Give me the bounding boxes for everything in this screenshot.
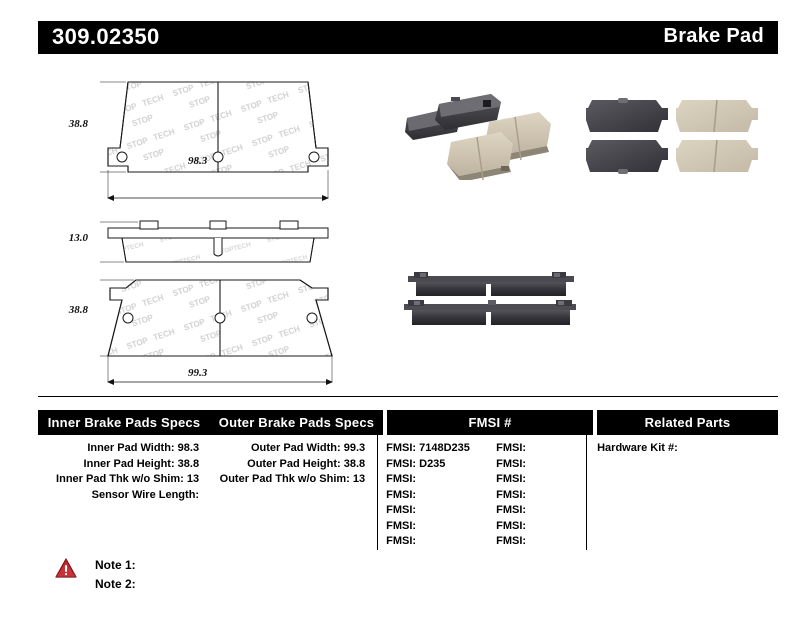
cell-fmsi: FMSI: 7148D235 FMSI: D235 FMSI: FMSI: FM… xyxy=(378,435,586,550)
part-number: 309.02350 xyxy=(52,24,160,50)
fmsi-line: FMSI: xyxy=(386,519,496,535)
cell-outer-specs: Outer Pad Width: 99.3 Outer Pad Height: … xyxy=(207,435,377,550)
photo-edge-pad-pair xyxy=(400,268,582,330)
fmsi-line: FMSI: 7148D235 xyxy=(386,441,496,457)
fmsi-line: FMSI: xyxy=(386,534,496,550)
drawings-svg: STOP TECH STOP STOPTECH xyxy=(100,70,410,390)
outer-spec-line: Outer Pad Width: 99.3 xyxy=(207,441,377,457)
fmsi-line: FMSI: D235 xyxy=(386,457,496,473)
table-header-row: Inner Brake Pads Specs Outer Brake Pads … xyxy=(38,410,778,435)
specs-table: Inner Brake Pads Specs Outer Brake Pads … xyxy=(38,410,778,550)
warning-triangle-icon xyxy=(55,558,77,578)
dim-outer-width: 99.3 xyxy=(188,367,207,379)
related-part-line: Hardware Kit #: xyxy=(597,441,778,457)
dim-inner-height: 38.8 xyxy=(28,118,88,130)
spec-sheet-page: 309.02350 Brake Pad STOP TECH STOP STOPT… xyxy=(0,0,800,619)
fmsi-line: FMSI: xyxy=(496,503,586,519)
th-related-parts: Related Parts xyxy=(597,410,778,435)
fmsi-line: FMSI: xyxy=(386,488,496,504)
note-line-1: Note 1: xyxy=(95,556,136,575)
th-inner-specs: Inner Brake Pads Specs xyxy=(38,410,210,435)
fmsi-line: FMSI: xyxy=(496,519,586,535)
dim-outer-height: 38.8 xyxy=(28,304,88,316)
photo-flat-pad-set xyxy=(586,96,764,176)
inner-spec-line: Inner Pad Height: 38.8 xyxy=(38,457,207,473)
header-bar: 309.02350 Brake Pad xyxy=(38,21,778,54)
product-type: Brake Pad xyxy=(663,25,764,48)
cell-related-parts: Hardware Kit #: xyxy=(587,435,778,550)
inner-spec-line: Sensor Wire Length: xyxy=(38,488,207,504)
table-body-row: Inner Pad Width: 98.3 Inner Pad Height: … xyxy=(38,435,778,550)
photo-angled-pad-set xyxy=(405,88,580,180)
inner-spec-line: Inner Pad Thk w/o Shim: 13 xyxy=(38,472,207,488)
fmsi-line: FMSI: xyxy=(386,503,496,519)
dim-inner-thickness: 13.0 xyxy=(28,232,88,244)
note-line-2: Note 2: xyxy=(95,575,136,594)
outer-spec-line: Outer Pad Thk w/o Shim: 13 xyxy=(207,472,377,488)
fmsi-line: FMSI: xyxy=(496,457,586,473)
note-text-block: Note 1: Note 2: xyxy=(95,556,136,594)
inner-spec-line: Inner Pad Width: 98.3 xyxy=(38,441,207,457)
th-outer-specs: Outer Brake Pads Specs xyxy=(210,410,383,435)
fmsi-subcol-left: FMSI: 7148D235 FMSI: D235 FMSI: FMSI: FM… xyxy=(378,441,496,550)
dim-inner-width: 98.3 xyxy=(188,155,207,167)
fmsi-line: FMSI: xyxy=(496,441,586,457)
table-top-rule xyxy=(38,396,778,397)
cell-inner-specs: Inner Pad Width: 98.3 Inner Pad Height: … xyxy=(38,435,207,550)
th-fmsi: FMSI # xyxy=(387,410,593,435)
fmsi-line: FMSI: xyxy=(386,472,496,488)
outer-spec-line: Outer Pad Height: 38.8 xyxy=(207,457,377,473)
fmsi-line: FMSI: xyxy=(496,472,586,488)
notes-section: Note 1: Note 2: xyxy=(55,556,136,594)
fmsi-subcol-right: FMSI: FMSI: FMSI: FMSI: FMSI: FMSI: FMSI… xyxy=(496,441,586,550)
fmsi-line: FMSI: xyxy=(496,488,586,504)
fmsi-line: FMSI: xyxy=(496,534,586,550)
technical-drawings-group: STOP TECH STOP STOPTECH xyxy=(100,70,410,390)
